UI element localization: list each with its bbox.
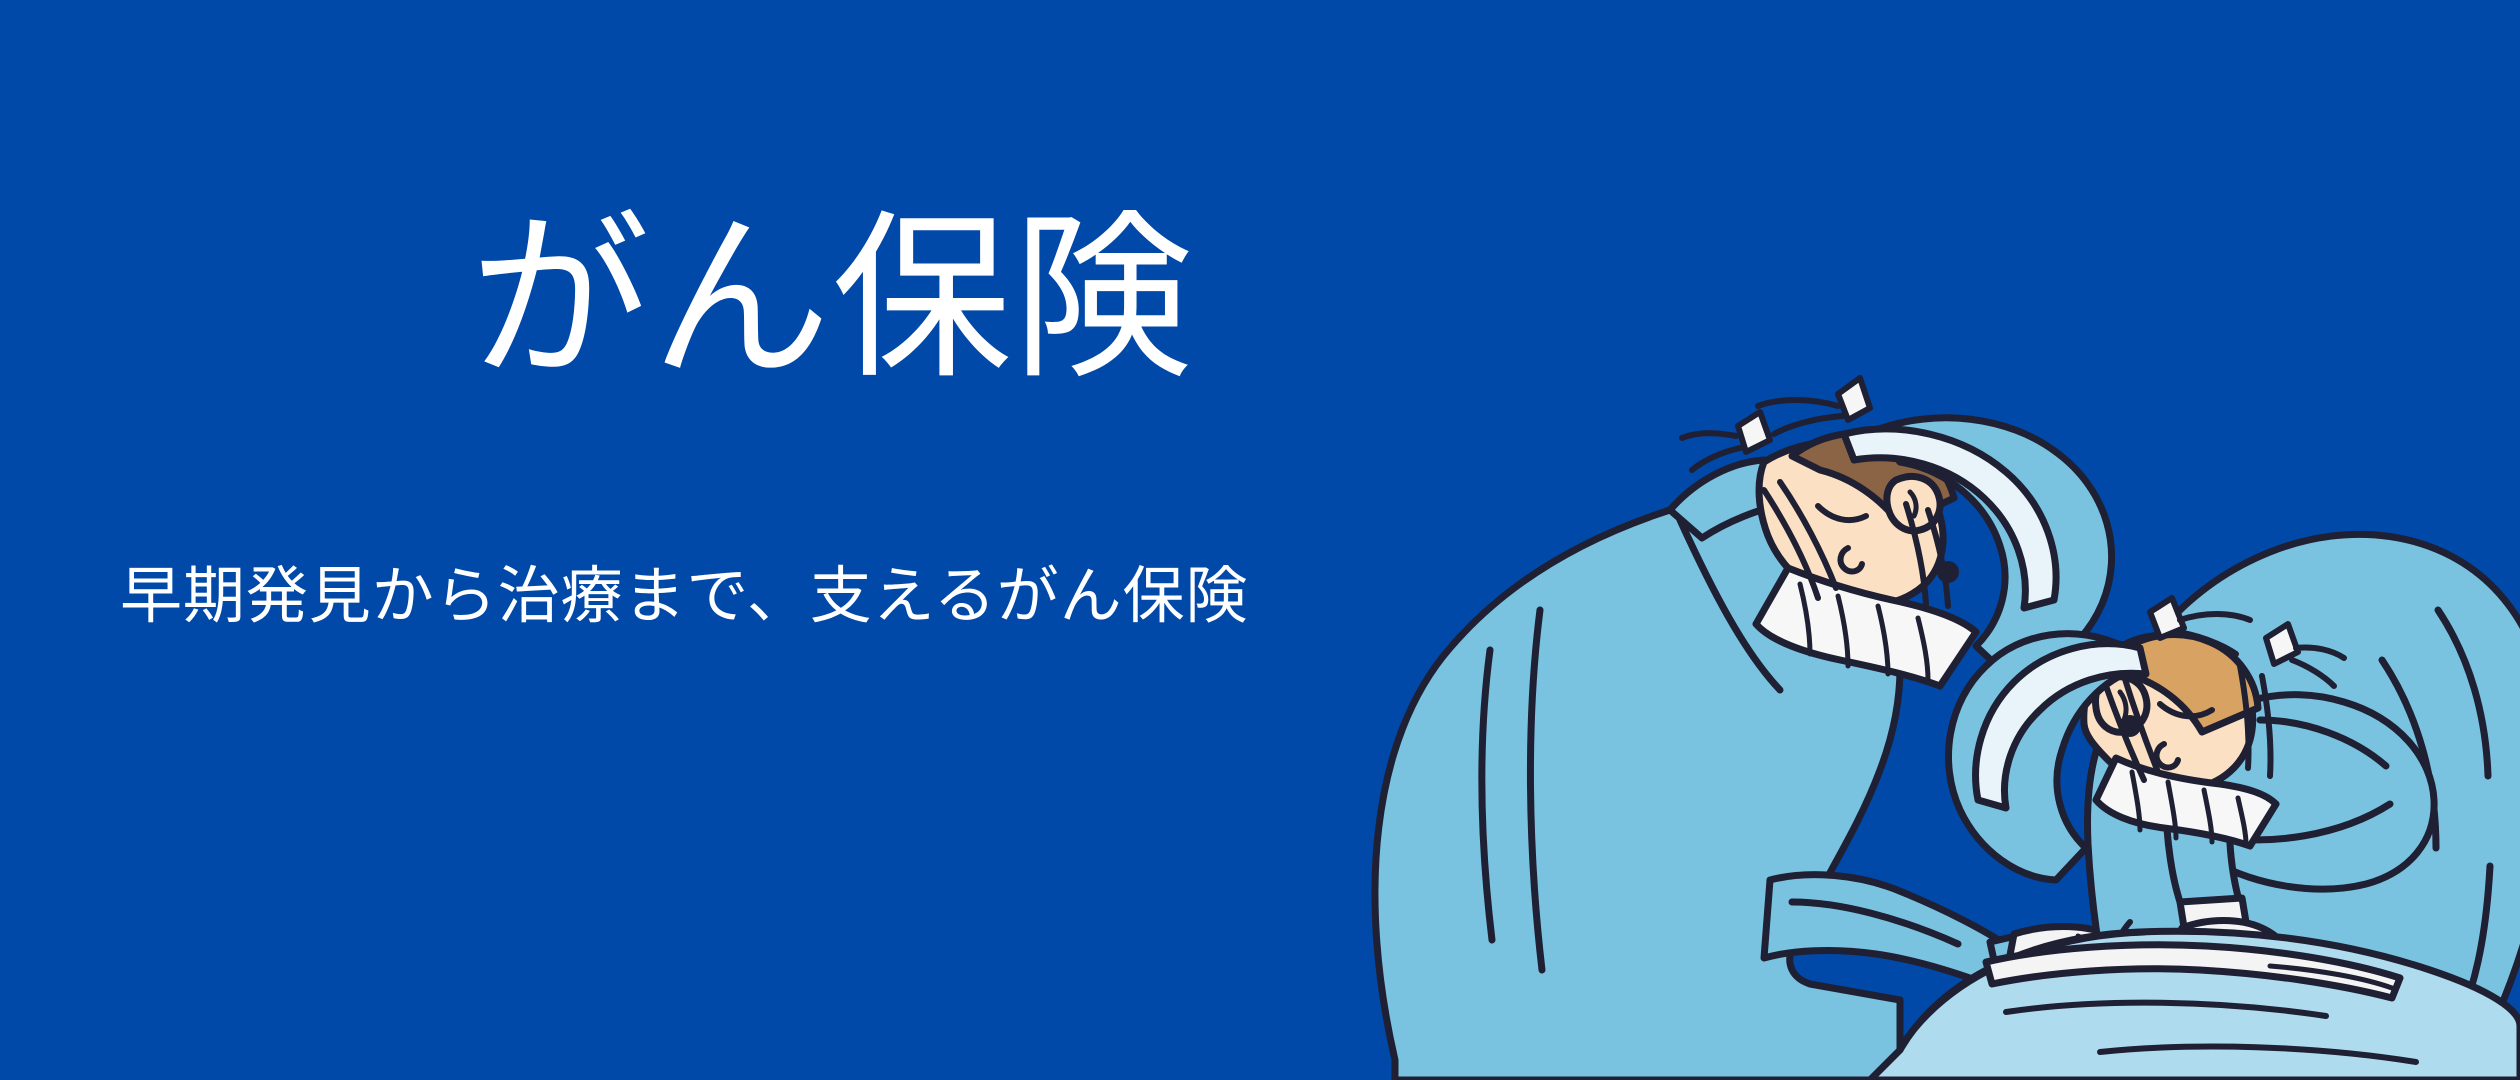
surgery-illustration <box>1340 180 2520 1080</box>
surgeon-right-dot <box>2119 715 2141 737</box>
surgery-illustration-svg <box>1340 180 2520 1080</box>
hero-text-block: がん保険 早期発見から治療まで、支えるがん保険 <box>0 0 1500 1080</box>
page-subtitle: 早期発見から治療まで、支えるがん保険 <box>120 557 1248 635</box>
surgeon-left-dot <box>1937 561 1959 583</box>
surgeon-left-sleeve <box>1764 875 2008 986</box>
page-title: がん保険 <box>470 199 1194 401</box>
hero-banner: がん保険 早期発見から治療まで、支えるがん保険 <box>0 0 2520 1080</box>
